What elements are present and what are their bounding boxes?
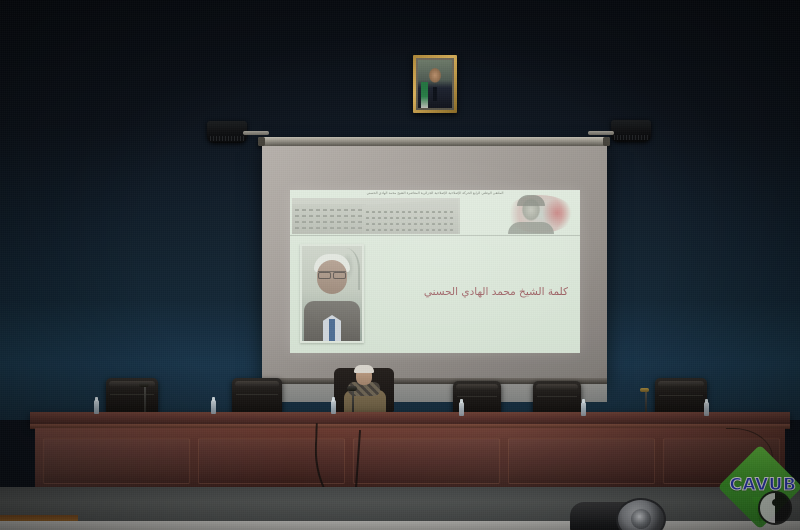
seated-speaker	[336, 366, 392, 416]
logo-text: CAVUB	[728, 475, 798, 495]
header-face-hair	[517, 195, 545, 206]
ceiling-speaker-left	[207, 121, 247, 143]
portrait-mat	[416, 58, 454, 110]
table-panel	[508, 438, 655, 484]
building-block-b	[362, 199, 458, 234]
speaker-grill	[210, 136, 244, 141]
cavub-watermark-logo: CAVUB	[728, 453, 798, 525]
roller-cap-left	[258, 137, 265, 146]
slide-header-band: الملتقى الوطني الرابع الحركة الإصلاحية ا…	[290, 190, 580, 235]
speaker-hair	[354, 365, 374, 373]
microphone-head	[640, 388, 649, 392]
table-panel	[353, 438, 500, 484]
tie-detail	[433, 87, 437, 101]
slide-speaker-photo	[300, 244, 364, 343]
camera-lens	[616, 498, 666, 530]
framed-portrait	[413, 55, 457, 113]
projection-screen: الملتقى الوطني الرابع الحركة الإصلاحية ا…	[262, 146, 607, 384]
chair	[106, 378, 158, 414]
chair	[232, 378, 282, 414]
speaker-grill	[614, 135, 648, 140]
camera-lens-inner	[631, 509, 651, 529]
water-bottle	[211, 400, 216, 414]
table-panel	[43, 438, 190, 484]
portrait-image	[418, 60, 452, 108]
water-bottle	[94, 400, 99, 414]
photo-scene: الملتقى الوطني الرابع الحركة الإصلاحية ا…	[0, 0, 800, 530]
slide-divider	[290, 235, 580, 236]
flag-detail	[421, 82, 428, 108]
microphone-stem	[352, 390, 354, 412]
slide-header-portrait	[466, 193, 576, 234]
chair	[533, 381, 581, 415]
slide-photo-inner	[302, 246, 362, 341]
header-face-shoulders	[508, 222, 554, 234]
screen-roller-bar	[258, 137, 610, 146]
building-block-a	[292, 204, 366, 234]
ceiling-speaker-right	[611, 120, 651, 142]
roller-cap-right	[603, 137, 610, 146]
presidium-table-front	[35, 428, 785, 490]
water-bottle	[581, 402, 586, 416]
microphone-head	[139, 382, 149, 387]
water-bottle	[704, 402, 709, 416]
chair	[655, 378, 707, 416]
slide-building-photo	[292, 198, 460, 234]
projected-slide: الملتقى الوطني الرابع الحركة الإصلاحية ا…	[290, 190, 580, 353]
yin-yang-icon	[758, 491, 792, 525]
photo-tie	[329, 319, 335, 341]
speaker-mount-left	[243, 131, 269, 135]
microphone-head	[347, 386, 357, 391]
slide-header-text: الملتقى الوطني الرابع الحركة الإصلاحية ا…	[367, 191, 504, 195]
floor-front-strip	[0, 521, 800, 530]
water-bottle	[459, 402, 464, 416]
video-camera	[570, 496, 678, 530]
slide-title-arabic: كلمة الشيخ محمد الهادي الحسني	[424, 286, 568, 298]
microphone-stem	[144, 386, 146, 412]
microphone-stem	[645, 392, 647, 412]
glasses-icon	[318, 271, 346, 277]
speaker-mount-right	[588, 131, 614, 135]
water-bottle	[331, 400, 336, 414]
